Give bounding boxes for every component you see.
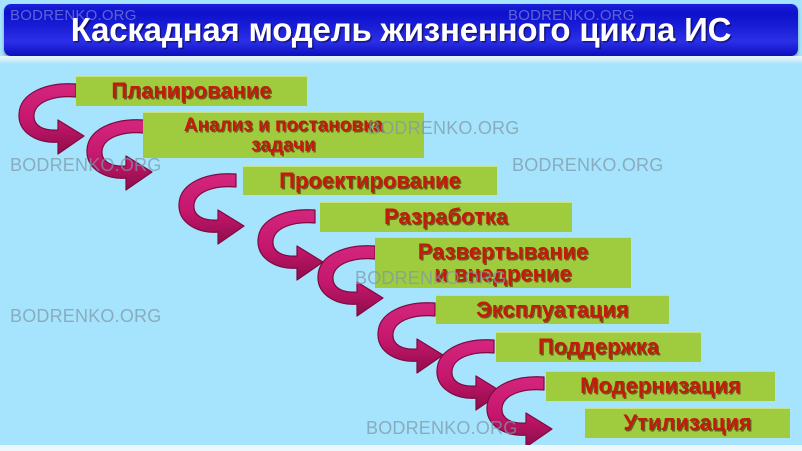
cascade-step-box[interactable]: Эксплуатация <box>436 295 669 324</box>
slide-canvas: Каскадная модель жизненного цикла ИС Пла… <box>0 0 802 451</box>
page-title: Каскадная модель жизненного цикла ИС <box>71 11 732 49</box>
cascade-step-label: Развертывание и внедрение <box>418 241 589 286</box>
cascade-step-label: Эксплуатация <box>476 299 629 321</box>
cascade-step-box[interactable]: Развертывание и внедрение <box>375 237 631 288</box>
watermark-text: BODRENKO.ORG <box>10 306 161 327</box>
cascade-step-box[interactable]: Анализ и постановка задачи <box>143 112 424 158</box>
cascade-arrow <box>174 170 246 248</box>
cascade-step-box[interactable]: Поддержка <box>496 332 701 362</box>
cascade-step-label: Утилизация <box>623 412 751 434</box>
cascade-step-label: Разработка <box>384 206 508 228</box>
cascade-step-box[interactable]: Модернизация <box>546 371 775 401</box>
watermark-text: BODRENKO.ORG <box>512 155 663 176</box>
bottom-strip <box>0 445 802 451</box>
cascade-step-box[interactable]: Проектирование <box>243 166 497 195</box>
cascade-step-label: Планирование <box>111 80 271 102</box>
slide-title-banner: Каскадная модель жизненного цикла ИС <box>4 4 798 56</box>
cascade-step-label: Анализ и постановка задачи <box>184 116 383 155</box>
cascade-step-label: Модернизация <box>580 375 741 397</box>
cascade-step-box[interactable]: Разработка <box>320 202 572 232</box>
cascade-step-label: Поддержка <box>538 336 659 358</box>
cascade-step-label: Проектирование <box>279 170 461 192</box>
cascade-step-box[interactable]: Утилизация <box>585 408 790 438</box>
banner-glow-divider <box>0 56 802 64</box>
cascade-step-box[interactable]: Планирование <box>76 76 307 106</box>
cascade-arrow <box>482 373 554 451</box>
